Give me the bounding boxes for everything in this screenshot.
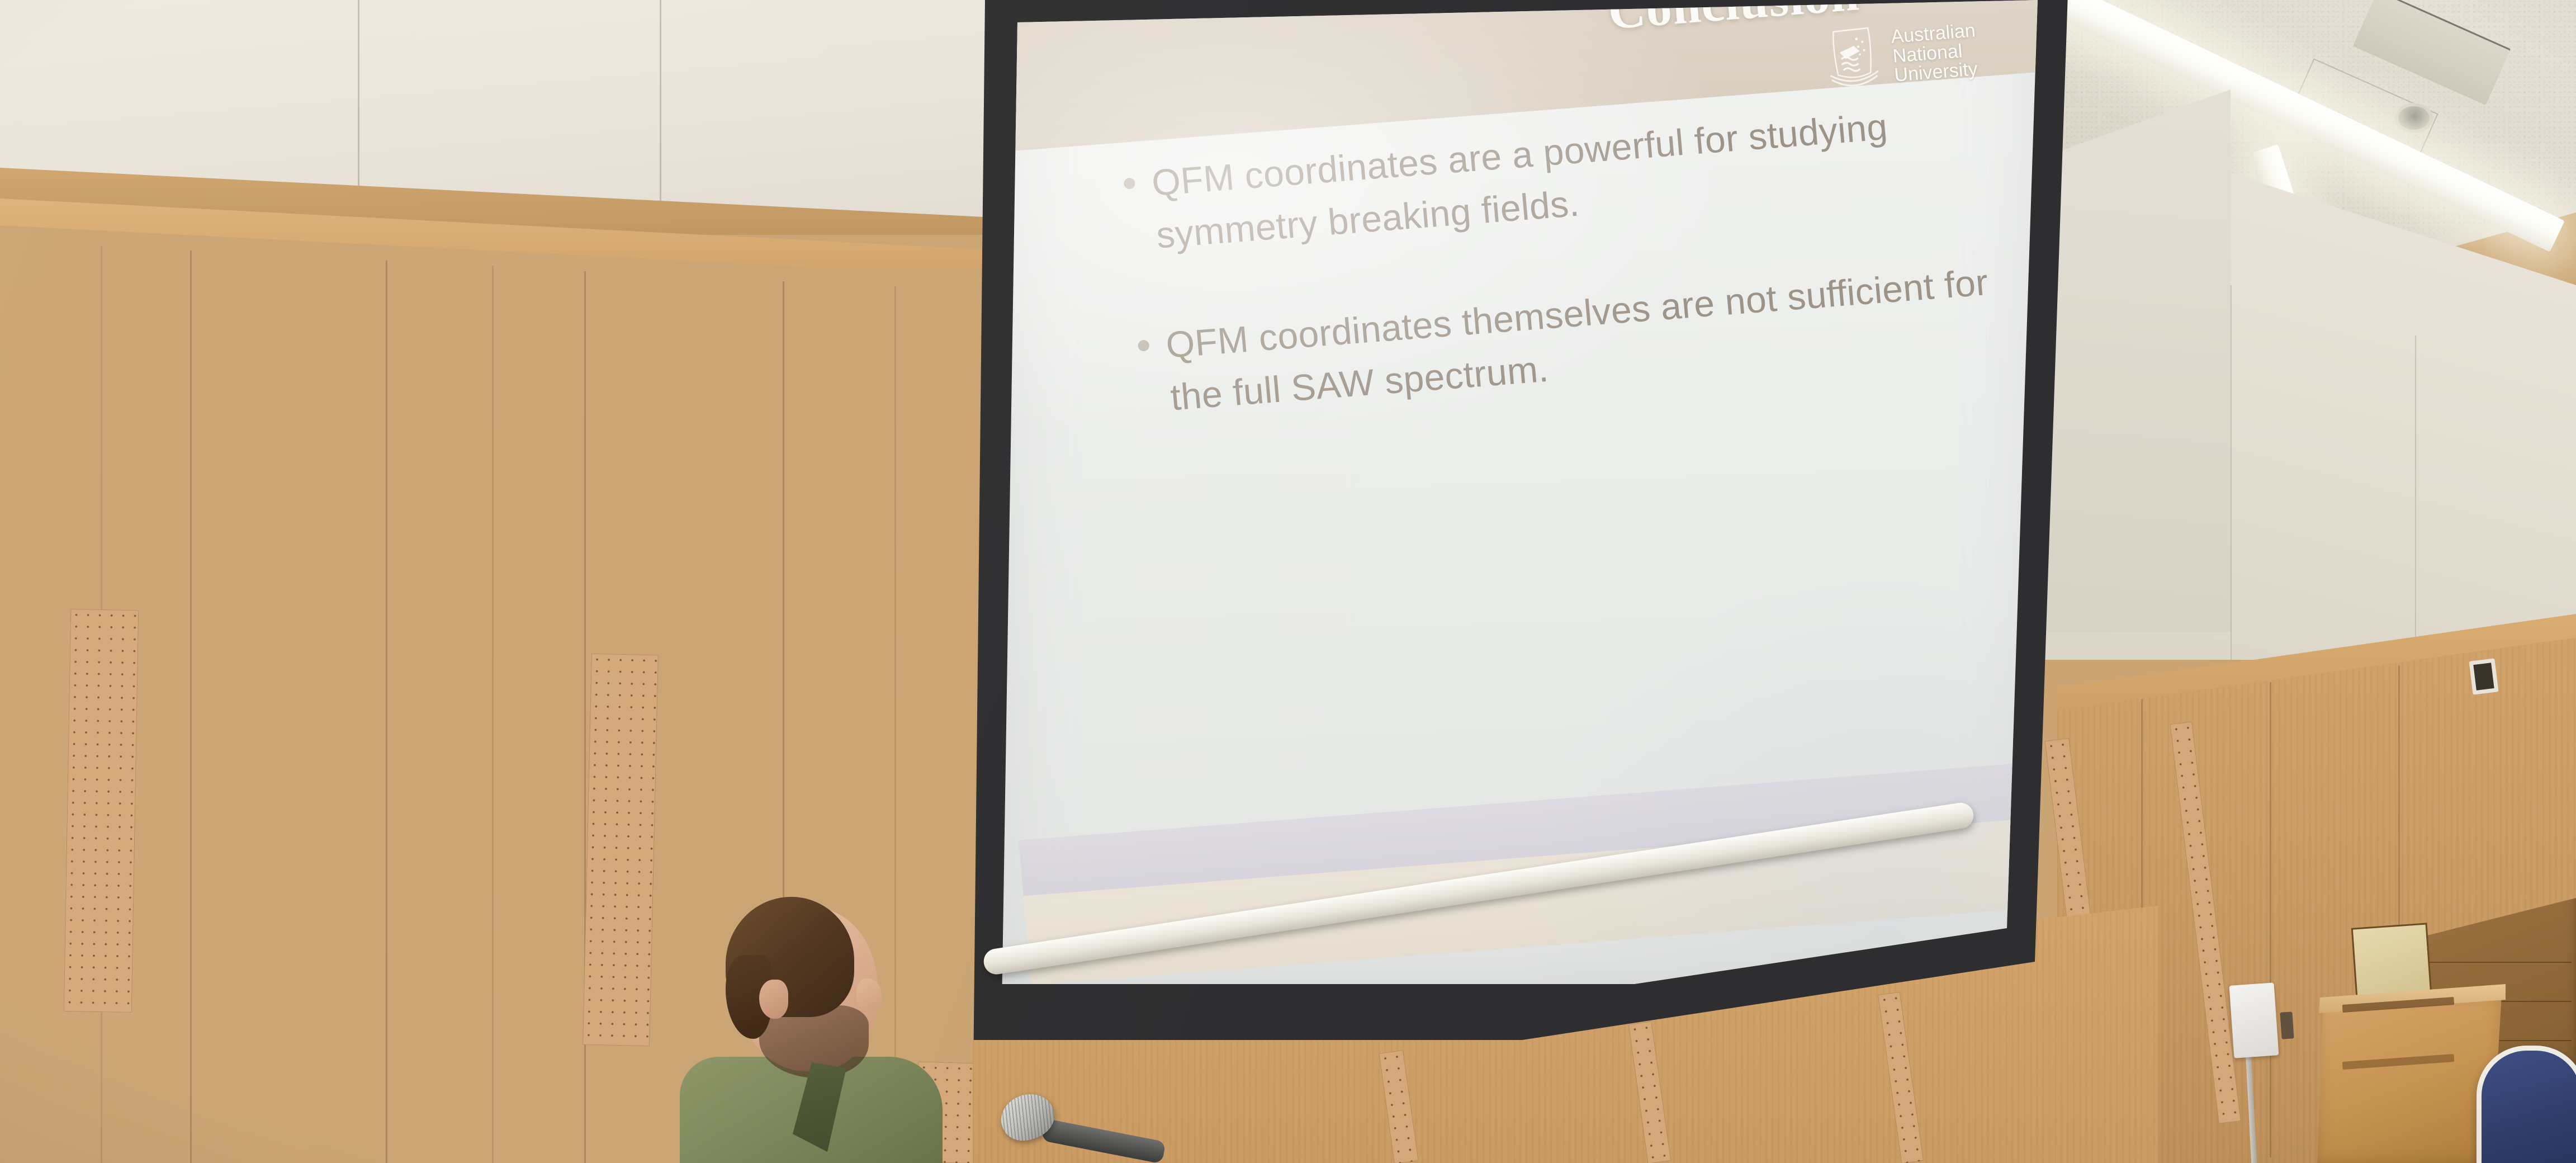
perforated-acoustic-panel <box>64 609 139 1013</box>
lectern <box>2317 995 2502 1163</box>
anu-crest-icon <box>1823 24 1883 95</box>
wall-switch[interactable] <box>2469 658 2499 694</box>
wayfinding-sign <box>2229 982 2279 1058</box>
lectern-monitor <box>2351 923 2432 998</box>
slide-body: QFM coordinates are a powerful for study… <box>1001 84 2040 497</box>
recessed-downlight <box>2398 106 2430 130</box>
presenter-nose <box>856 978 882 1012</box>
bullet-dot-icon <box>1138 340 1150 352</box>
chair <box>2476 1046 2576 1163</box>
anu-line-3: University <box>1893 59 1980 85</box>
anu-wordmark: Australian National University <box>1890 21 1980 85</box>
anu-logo: Australian National University <box>1823 16 1980 94</box>
bullet-item: QFM coordinates themselves are not suffi… <box>1136 255 2015 426</box>
lecture-theatre-photo: Conclusion Australian <box>0 0 2576 1163</box>
presenter-ear <box>759 980 788 1019</box>
bullet-dot-icon <box>1124 177 1136 189</box>
bullet-text: QFM coordinates themselves are not suffi… <box>1164 255 2015 424</box>
perforated-acoustic-panel <box>583 654 659 1047</box>
wall-outlet[interactable] <box>2280 1011 2294 1039</box>
presenter <box>660 895 950 1163</box>
